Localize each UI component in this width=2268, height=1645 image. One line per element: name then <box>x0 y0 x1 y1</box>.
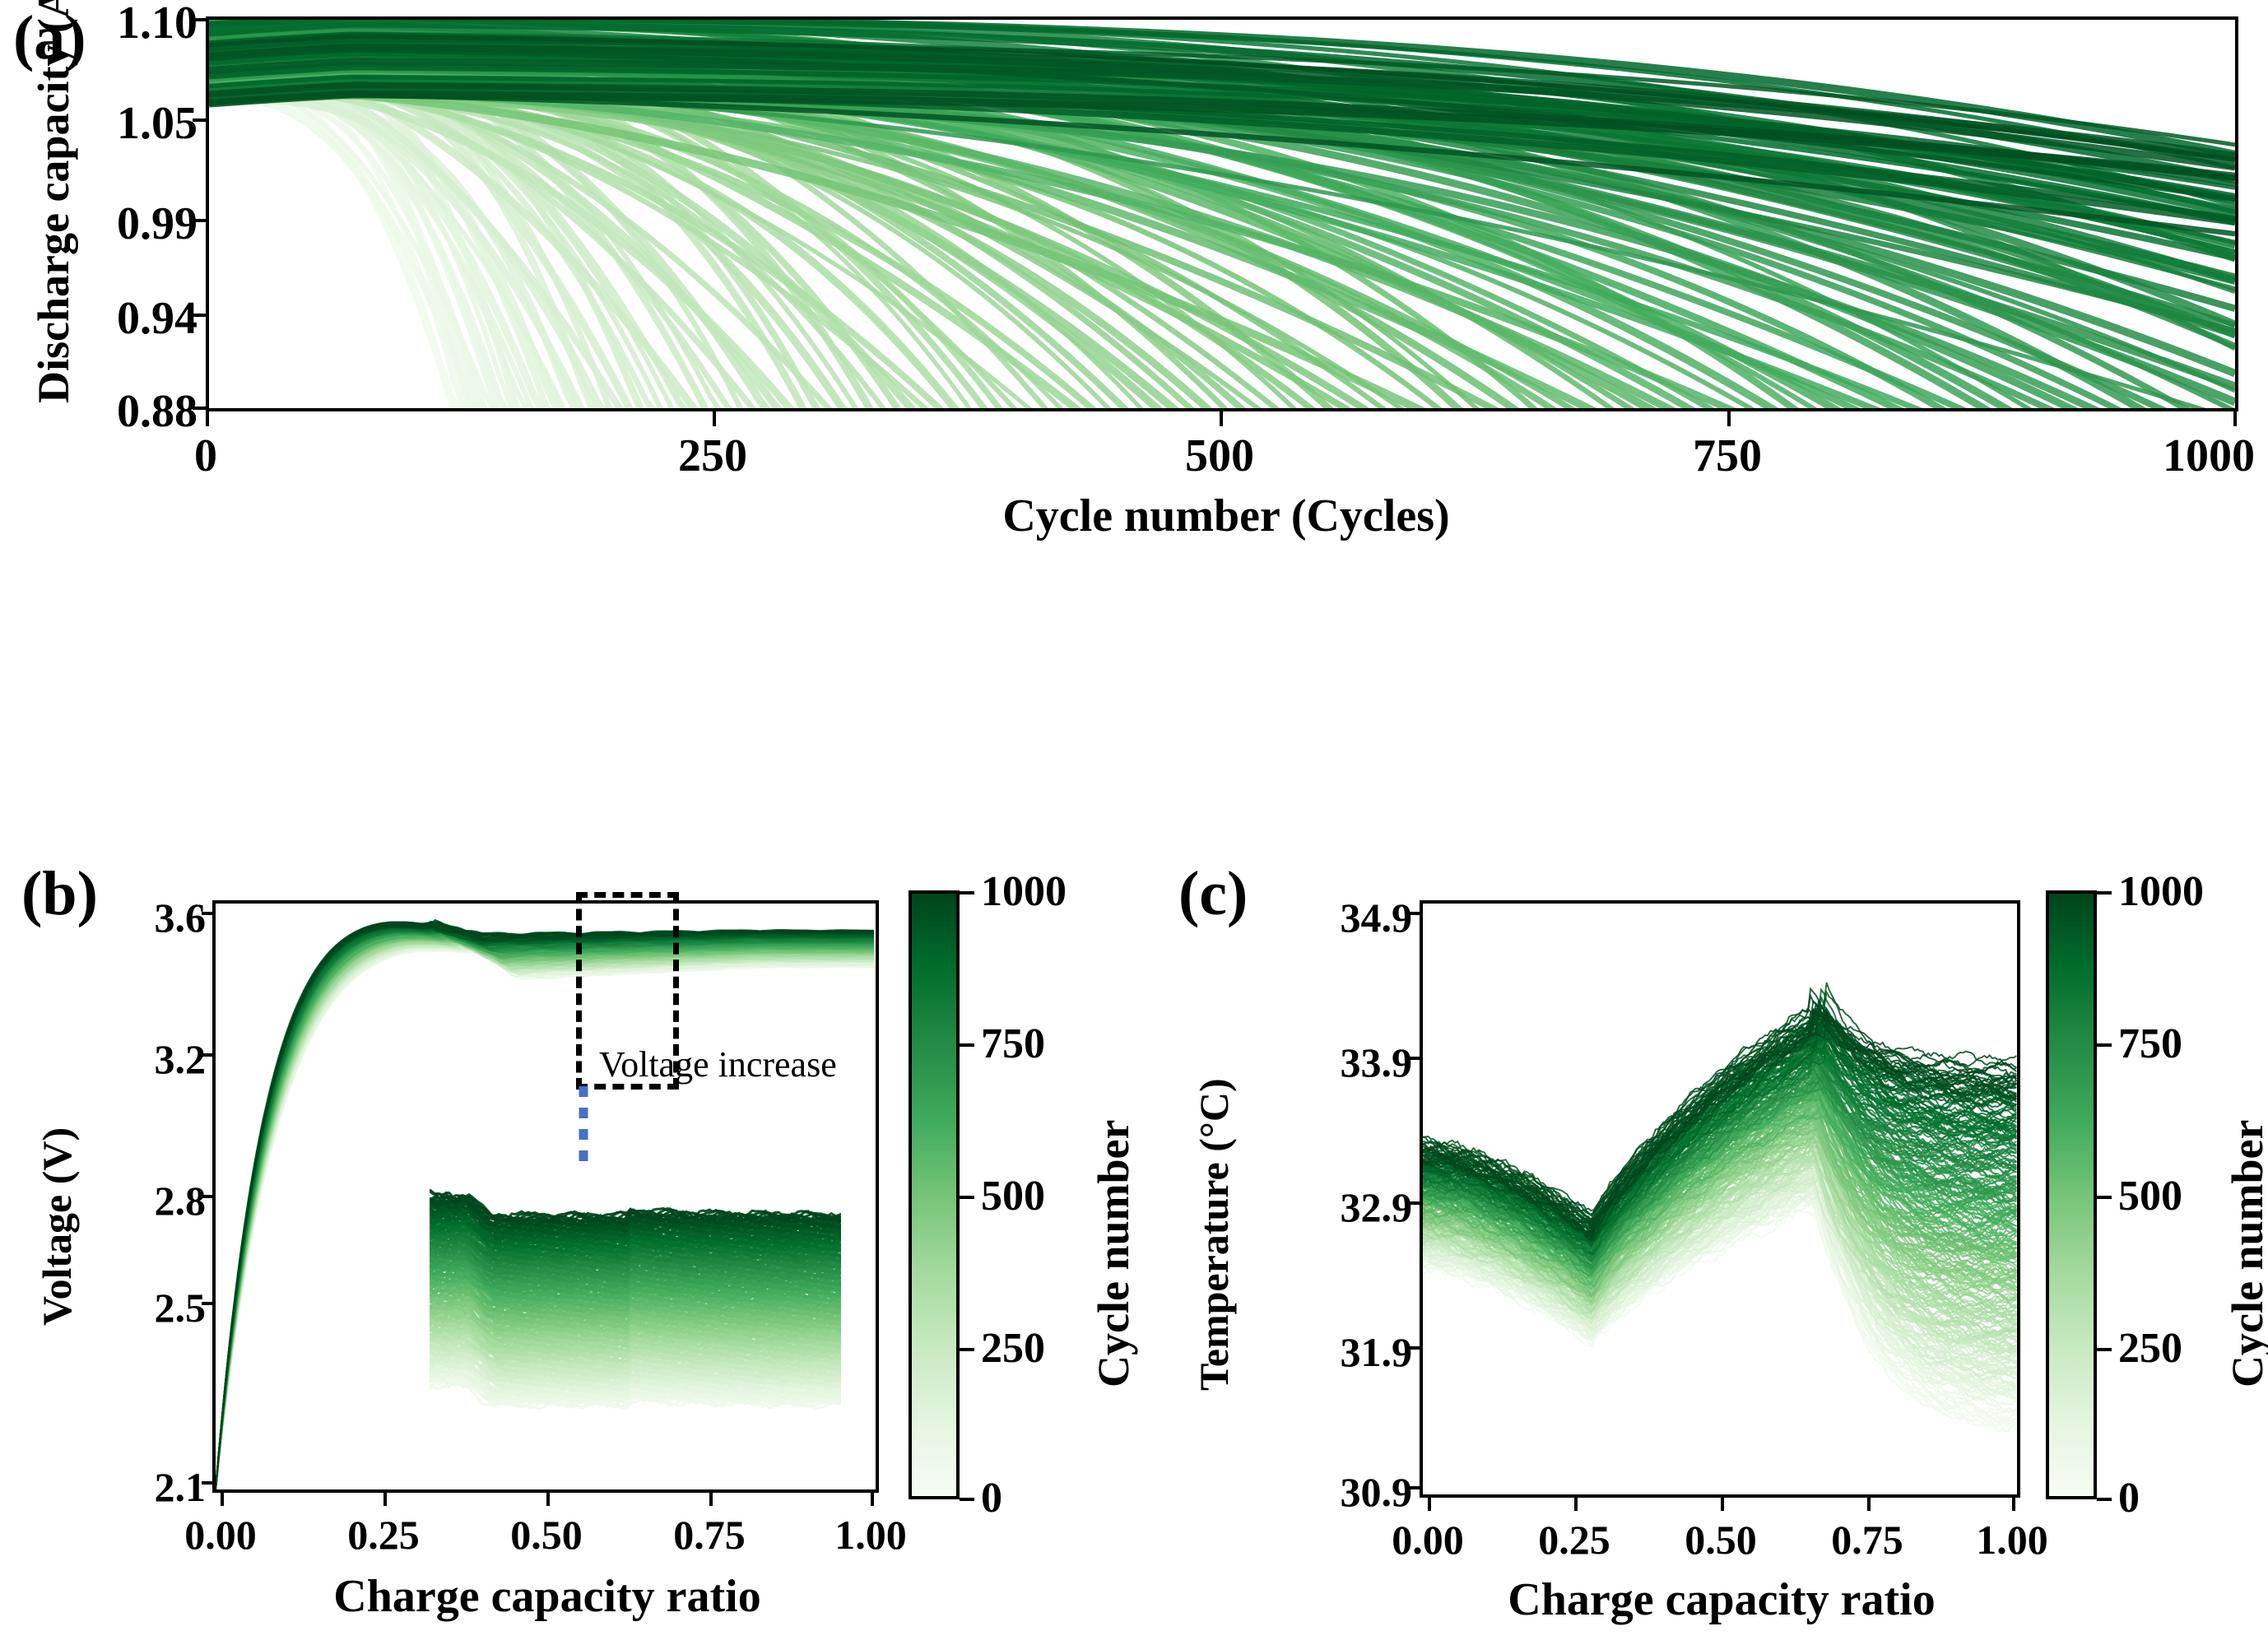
panel-c-xtickmark-0 <box>1428 1498 1431 1511</box>
panel-b-cbar-tick-2: 500 <box>981 1172 1045 1220</box>
panel-b-inset-curves <box>430 1162 841 1425</box>
panel-b-ytick-4: 2.1 <box>66 1463 206 1511</box>
panel-b-cbar-tick-3: 250 <box>981 1324 1045 1373</box>
panel-c-cbar-tick-4: 0 <box>2118 1474 2140 1522</box>
panel-b-cbar-tick-0: 1000 <box>981 867 1067 916</box>
panel-a-xtick-1: 250 <box>630 430 795 482</box>
panel-b-xtick-0: 0.00 <box>146 1511 295 1559</box>
panel-b-xtickmark-2 <box>546 1493 550 1506</box>
panel-c-xtick-2: 0.50 <box>1647 1516 1795 1564</box>
panel-a-xtickmark-4 <box>2233 411 2237 426</box>
panel-c-ytick-4: 30.9 <box>1223 1468 1412 1516</box>
panel-c-ytick-0: 34.9 <box>1223 894 1412 941</box>
panel-c-xtick-1: 0.25 <box>1500 1516 1648 1564</box>
panel-b-xtickmark-3 <box>709 1493 713 1506</box>
panel-c-cbar-tickmark-1 <box>2097 1043 2112 1047</box>
panel-a-xlabel: Cycle number (Cycles) <box>782 490 1671 542</box>
panel-b-xtickmark-4 <box>871 1493 874 1506</box>
panel-c-cbar-tickmark-3 <box>2097 1348 2112 1351</box>
panel-a-xtick-3: 750 <box>1645 430 1810 482</box>
panel-b-ytick-3: 2.5 <box>66 1284 206 1331</box>
panel-c-xtickmark-3 <box>1867 1498 1871 1511</box>
panel-c-ytick-2: 32.9 <box>1223 1183 1412 1231</box>
panel-c-colorbar-label: Cycle number <box>2222 1009 2268 1387</box>
panel-a-xtickmark-3 <box>1727 411 1731 426</box>
panel-c-xtick-0: 0.00 <box>1354 1516 1502 1564</box>
panel-c-colorbar <box>2046 890 2097 1499</box>
panel-b-colorbar <box>909 890 960 1499</box>
panel-c-ylabel: Temperature (°C) <box>1190 1037 1238 1432</box>
panel-b-cbar-tickmark-2 <box>960 1196 974 1199</box>
panel-c-cbar-tick-0: 1000 <box>2118 867 2204 916</box>
panel-b-ytick-1: 3.2 <box>66 1035 206 1083</box>
panel-c-xtick-4: 1.00 <box>1938 1516 2086 1564</box>
panel-a-xtickmark-1 <box>713 411 716 426</box>
panel-a-xtickmark-0 <box>206 411 209 426</box>
panel-c-ytick-1: 33.9 <box>1223 1039 1412 1086</box>
panel-b-cbar-tickmark-4 <box>960 1498 974 1501</box>
panel-a-curves <box>209 20 2235 408</box>
panel-c-cbar-tickmark-4 <box>2097 1498 2112 1501</box>
panel-b-cbar-tickmark-1 <box>960 1043 974 1047</box>
panel-c-xtickmark-1 <box>1574 1498 1578 1511</box>
panel-b-cbar-tick-1: 750 <box>981 1020 1045 1068</box>
panel-c-xtickmark-2 <box>1721 1498 1724 1511</box>
panel-a-xtick-0: 0 <box>123 430 288 482</box>
panel-c-cbar-tickmark-2 <box>2097 1196 2112 1199</box>
panel-b-xlabel: Charge capacity ratio <box>243 1570 852 1623</box>
panel-c-cbar-tick-3: 250 <box>2118 1324 2182 1373</box>
panel-b-xtick-1: 0.25 <box>309 1511 458 1559</box>
panel-b-xtick-4: 1.00 <box>797 1511 945 1559</box>
panel-b-cbar-tick-4: 0 <box>981 1474 1002 1522</box>
panel-b-cbar-tickmark-3 <box>960 1348 974 1351</box>
panel-b-cbar-tickmark-0 <box>960 891 974 895</box>
panel-c-cbar-tick-1: 750 <box>2118 1020 2182 1068</box>
panel-b-xtickmark-0 <box>221 1493 224 1506</box>
panel-c-plot-area <box>1420 900 2020 1498</box>
panel-b-annotation-label: Voltage increase <box>599 1043 837 1085</box>
panel-c-xtick-3: 0.75 <box>1793 1516 1941 1564</box>
panel-c-ytick-3: 31.9 <box>1223 1328 1412 1376</box>
panel-c-cbar-tickmark-0 <box>2097 891 2112 895</box>
panel-b-ylabel: Voltage (V) <box>33 1070 81 1382</box>
panel-b-colorbar-label: Cycle number <box>1088 1009 1139 1387</box>
panel-b-xtick-3: 0.75 <box>635 1511 783 1559</box>
panel-b-xtickmark-1 <box>383 1493 387 1506</box>
panel-c-curves <box>1423 904 2017 1494</box>
panel-c-xtickmark-4 <box>2012 1498 2015 1511</box>
panel-a-xtick-2: 500 <box>1137 430 1302 482</box>
panel-a-xtickmark-2 <box>1220 411 1223 426</box>
panel-a-plot-area <box>206 16 2238 411</box>
panel-b-ytick-2: 2.8 <box>66 1177 206 1224</box>
panel-a-xtick-4: 1000 <box>2126 430 2268 482</box>
panel-c-xlabel: Charge capacity ratio <box>1417 1573 2026 1626</box>
panel-a-ylabel: Discharge capacity (Ah) <box>28 58 79 403</box>
panel-b-xtick-2: 0.50 <box>472 1511 620 1559</box>
panel-b-ytick-0: 3.6 <box>66 894 206 941</box>
panel-b-inset-plot <box>430 1162 841 1425</box>
panel-c-cbar-tick-2: 500 <box>2118 1172 2182 1220</box>
